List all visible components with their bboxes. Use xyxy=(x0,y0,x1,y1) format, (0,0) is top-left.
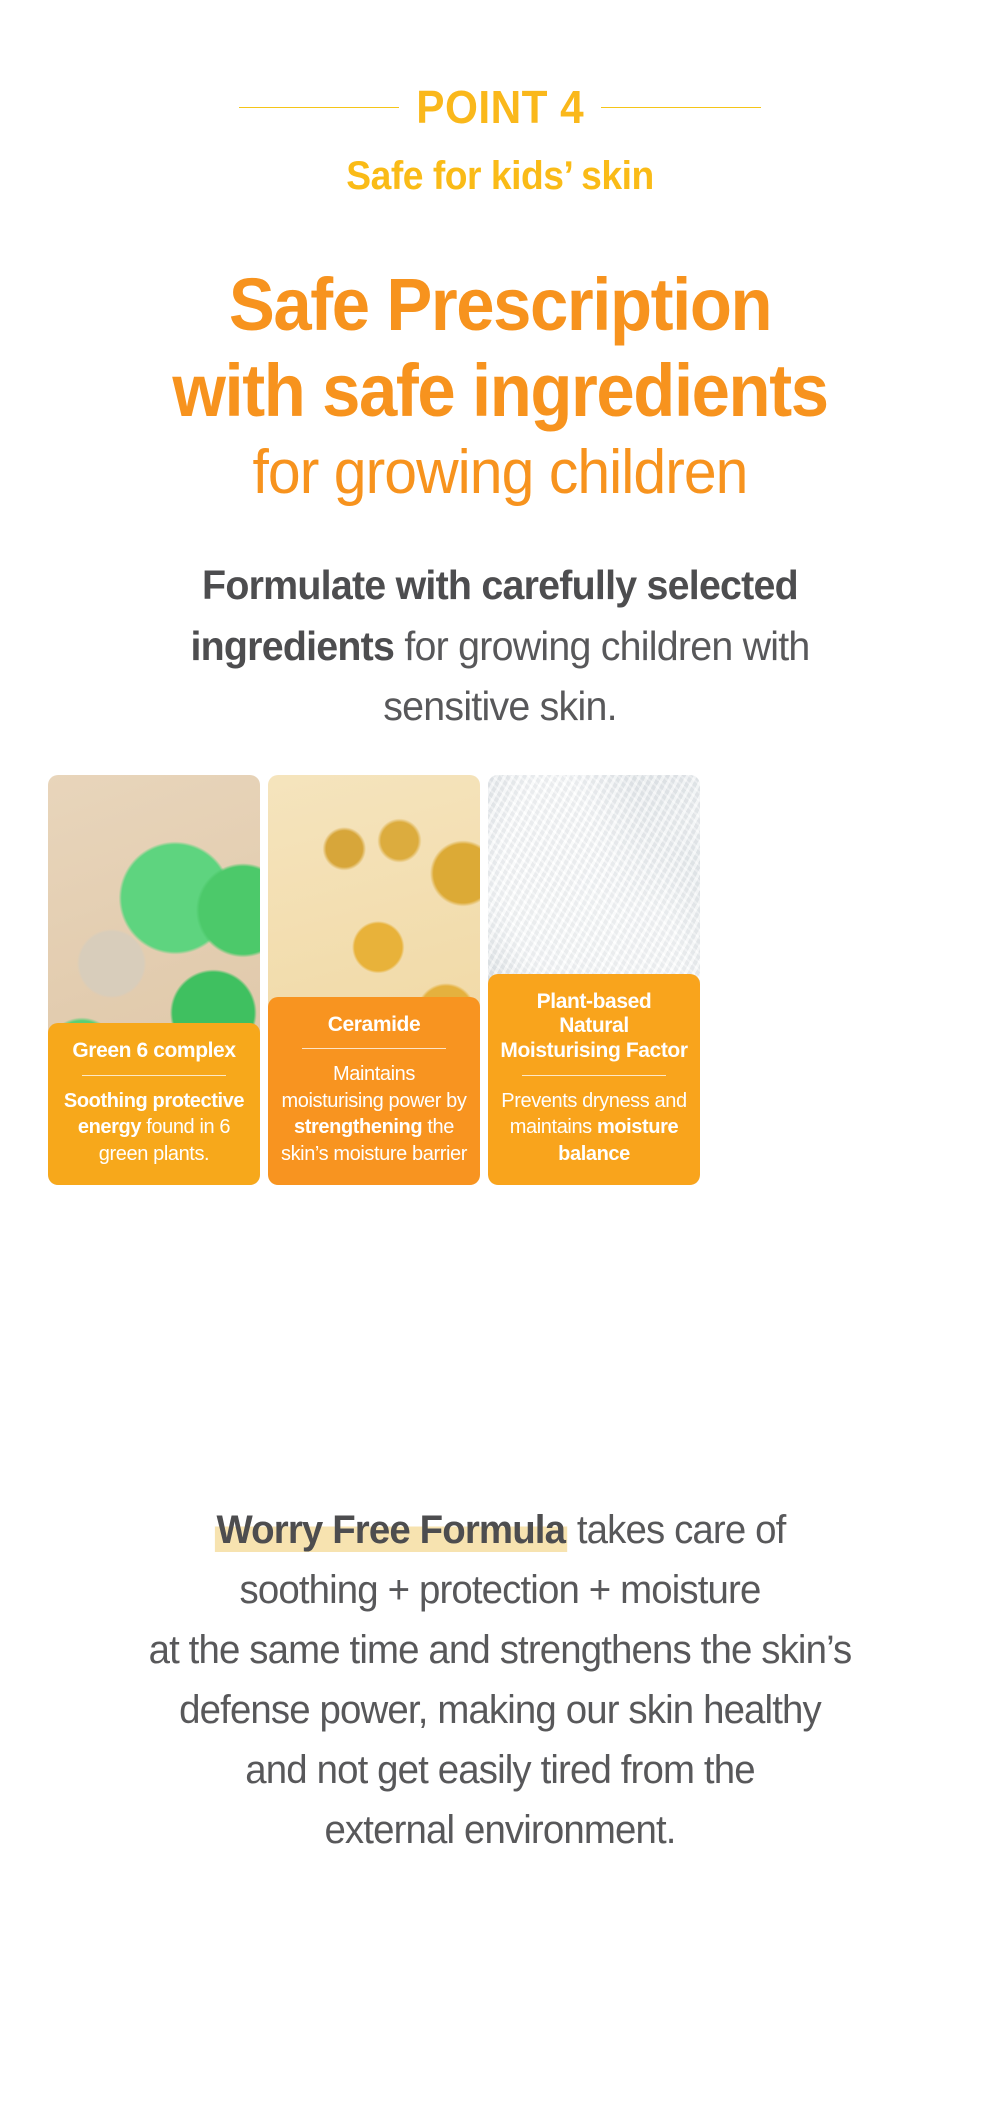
ingredient-card-ceramide[interactable]: Ceramide Maintains moisturising power by… xyxy=(268,775,480,1185)
card-description: Soothing protective energy found in 6 gr… xyxy=(60,1088,248,1167)
outro-line-5: and not get easily tired from the xyxy=(245,1748,754,1792)
outro-line-2: soothing + protection + moisture xyxy=(240,1568,761,1612)
outro-line-1-rest: takes care of xyxy=(567,1508,785,1552)
intro-rest: for growing children with sensitive skin… xyxy=(383,623,809,730)
outro-line-4: defense power, making our skin healthy xyxy=(179,1688,821,1732)
point-subtitle: Safe for kids’ skin xyxy=(35,154,965,199)
card-divider xyxy=(82,1075,226,1076)
card-divider xyxy=(302,1048,446,1049)
card-title: Green 6 complex xyxy=(60,1039,248,1064)
card-text-panel: Green 6 complex Soothing protective ener… xyxy=(48,1023,260,1185)
card-title: Plant-based Natural Moisturising Factor xyxy=(500,990,688,1064)
outro-line-6: external environment. xyxy=(324,1808,675,1852)
card-title: Ceramide xyxy=(280,1013,468,1038)
point-header: POINT 4 xyxy=(0,84,1000,130)
card-description: Maintains moisturising power by strength… xyxy=(280,1061,468,1167)
card-text-panel: Plant-based Natural Moisturising Factor … xyxy=(488,974,700,1185)
ingredient-card-green-6-complex[interactable]: Green 6 complex Soothing protective ener… xyxy=(48,775,260,1185)
card-description: Prevents dryness and maintains moisture … xyxy=(500,1088,688,1167)
card-divider xyxy=(522,1075,666,1076)
outro-line-3: at the same time and strengthens the ski… xyxy=(149,1628,852,1672)
headline-line-2: with safe ingredients xyxy=(35,354,965,428)
headline-line-1: Safe Prescription xyxy=(35,268,965,342)
intro-paragraph: Formulate with carefully selected ingred… xyxy=(20,555,980,737)
ingredient-card-plant-based-nmf[interactable]: Plant-based Natural Moisturising Factor … xyxy=(488,775,700,1185)
ingredient-card-row: Green 6 complex Soothing protective ener… xyxy=(48,775,952,1185)
point-rule-right xyxy=(601,107,761,108)
point-label: POINT 4 xyxy=(407,84,593,130)
main-headline: Safe Prescription with safe ingredients … xyxy=(0,268,1000,504)
point-rule-left xyxy=(239,107,399,108)
card-desc-bold: strengthening xyxy=(294,1116,422,1138)
card-text-panel: Ceramide Maintains moisturising power by… xyxy=(268,997,480,1185)
outro-paragraph: Worry Free Formula takes care of soothin… xyxy=(20,1500,980,1860)
headline-line-3: for growing children xyxy=(25,442,975,504)
outro-highlight: Worry Free Formula xyxy=(215,1508,567,1552)
card-desc-pre: Maintains moisturising power by xyxy=(281,1063,466,1111)
